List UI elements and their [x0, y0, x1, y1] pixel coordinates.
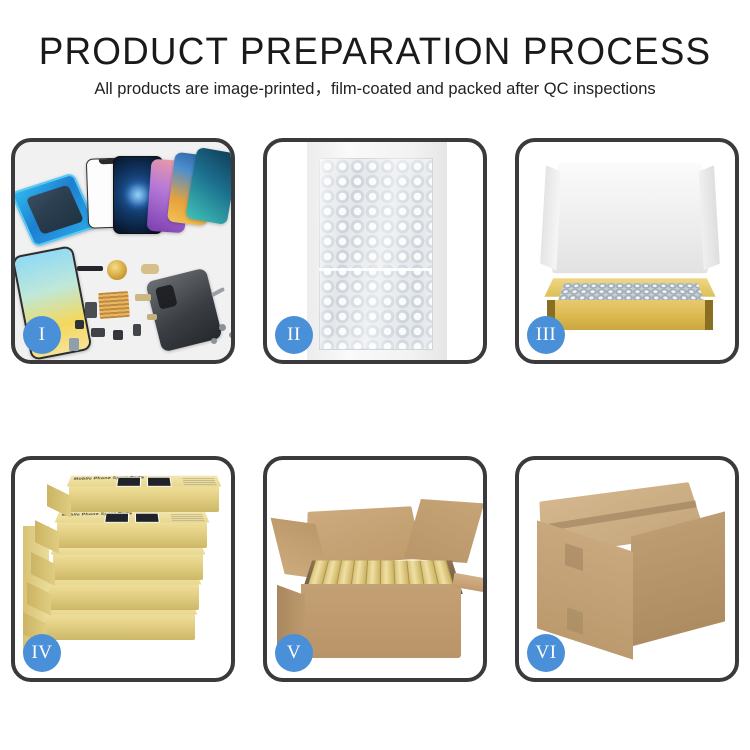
step-panel-4[interactable]: Mobile Phone Spare Parts Mobile Phone Sp… [11, 456, 235, 682]
spare-part [75, 320, 84, 329]
step-panel-5[interactable]: V [263, 456, 487, 682]
step-numeral-badge-4: IV [23, 634, 61, 672]
step-numeral-badge-1: I [23, 316, 61, 354]
page-header: PRODUCT PREPARATION PROCESS All products… [0, 0, 750, 102]
stacked-box [49, 584, 199, 610]
chip-array-part [98, 291, 130, 319]
spare-part [135, 294, 151, 301]
spare-screw [211, 338, 217, 344]
spare-part [69, 338, 79, 351]
spare-part [147, 314, 157, 320]
bubble-wrap-seam [319, 268, 431, 271]
process-step-grid: I II III [0, 138, 750, 682]
blue-film-screen [15, 172, 98, 247]
stacked-box [45, 614, 195, 640]
step-numeral-badge-5: V [275, 634, 313, 672]
box-label-screen-images [116, 477, 175, 485]
spare-part [141, 264, 159, 274]
box-label-spec-lines [170, 513, 204, 521]
box-label-face: Mobile Phone Spare Parts [55, 512, 210, 523]
spare-part [91, 328, 105, 337]
carton-right-flap [404, 499, 483, 563]
step-numeral-badge-6: VI [527, 634, 565, 672]
page-subtitle: All products are image-printed，film-coat… [0, 76, 750, 102]
stacked-box-labeled: Mobile Phone Spare Parts [57, 522, 207, 548]
spare-part [211, 287, 225, 297]
process-row-bottom: Mobile Phone Spare Parts Mobile Phone Sp… [11, 456, 739, 682]
spare-part [113, 330, 123, 340]
stacked-box-labeled: Mobile Phone Spare Parts [69, 486, 219, 512]
stacked-box [53, 554, 203, 580]
spare-part [85, 302, 97, 318]
page-title: PRODUCT PREPARATION PROCESS [11, 30, 739, 74]
step-panel-6[interactable]: VI [515, 456, 739, 682]
box-label-spec-lines [182, 477, 216, 485]
step-panel-2[interactable]: II [263, 138, 487, 364]
inner-box-front [547, 300, 713, 330]
spare-screw [219, 324, 226, 331]
step-panel-1[interactable]: I [11, 138, 235, 364]
gold-coil-part [107, 260, 127, 280]
spare-part [77, 266, 103, 271]
bubble-wrap-pack [319, 158, 433, 350]
spare-part [133, 324, 141, 336]
step-numeral-badge-2: II [275, 316, 313, 354]
box-label-face: Mobile Phone Spare Parts [67, 476, 222, 487]
box-label-screen-images [104, 513, 163, 521]
spare-screw [229, 332, 231, 338]
carton-side-face [631, 511, 725, 646]
inner-box-lid [552, 163, 708, 273]
carton-front-face [301, 584, 461, 658]
process-row-top: I II III [11, 138, 739, 364]
step-numeral-badge-3: III [527, 316, 565, 354]
step-panel-3[interactable]: III [515, 138, 739, 364]
